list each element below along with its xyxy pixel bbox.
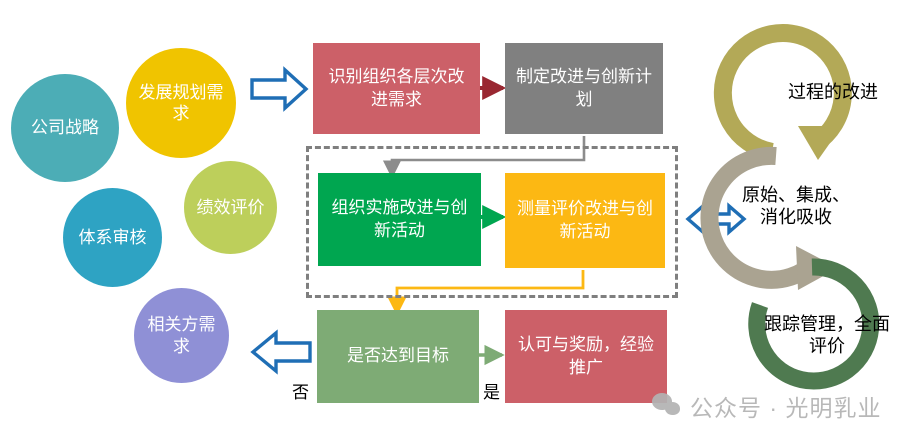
wechat-icon xyxy=(652,393,682,419)
blue-hollow-left-arrow xyxy=(253,333,310,371)
decision-label-yes: 是 xyxy=(483,378,500,403)
circle-company-strategy[interactable]: 公司战略 xyxy=(11,74,119,182)
watermark-text: 公众号 · 光明乳业 xyxy=(690,389,881,423)
box-label: 测量评价改进与创新活动 xyxy=(513,198,657,244)
process-box-reward[interactable]: 认可与奖励，经验推广 xyxy=(505,310,667,403)
circle-label: 体系审核 xyxy=(79,227,147,248)
circle-label: 绩效评价 xyxy=(197,197,265,218)
blue-hollow-right-arrow xyxy=(252,70,306,108)
box-label: 是否达到目标 xyxy=(347,345,449,368)
circle-stakeholder-needs[interactable]: 相关方需求 xyxy=(134,288,229,383)
process-box-implement[interactable]: 组织实施改进与创新活动 xyxy=(318,173,481,266)
cycle-label-absorb-integrate: 原始、集成、消化吸收 xyxy=(740,185,852,229)
box-label: 组织实施改进与创新活动 xyxy=(326,197,473,243)
process-box-goal-check[interactable]: 是否达到目标 xyxy=(317,310,479,403)
box-label: 制定改进与创新计划 xyxy=(513,66,655,112)
blue-hollow-double-arrow xyxy=(688,206,744,232)
cycle-label-track-evaluate: 跟踪管理，全面评价 xyxy=(762,314,892,358)
watermark: 公众号 · 光明乳业 xyxy=(652,389,881,423)
process-box-measure[interactable]: 测量评价改进与创新活动 xyxy=(505,173,665,268)
decision-label-no: 否 xyxy=(292,378,309,403)
circle-label: 相关方需求 xyxy=(142,314,221,357)
circle-performance-evaluation[interactable]: 绩效评价 xyxy=(184,161,277,254)
process-box-identify-needs[interactable]: 识别组织各层次改进需求 xyxy=(313,43,480,134)
circle-label: 公司战略 xyxy=(31,117,99,138)
process-box-make-plan[interactable]: 制定改进与创新计划 xyxy=(505,43,663,134)
circle-system-audit[interactable]: 体系审核 xyxy=(63,188,162,287)
cycle-label-process-improvement: 过程的改进 xyxy=(768,82,898,104)
diagram-canvas: 公司战略 发展规划需求 体系审核 绩效评价 相关方需求 识别组织各层次改进需求 … xyxy=(0,0,905,432)
box-label: 识别组织各层次改进需求 xyxy=(321,66,472,112)
circle-development-plan-needs[interactable]: 发展规划需求 xyxy=(126,48,236,158)
box-label: 认可与奖励，经验推广 xyxy=(513,334,659,380)
circle-label: 发展规划需求 xyxy=(134,82,228,125)
